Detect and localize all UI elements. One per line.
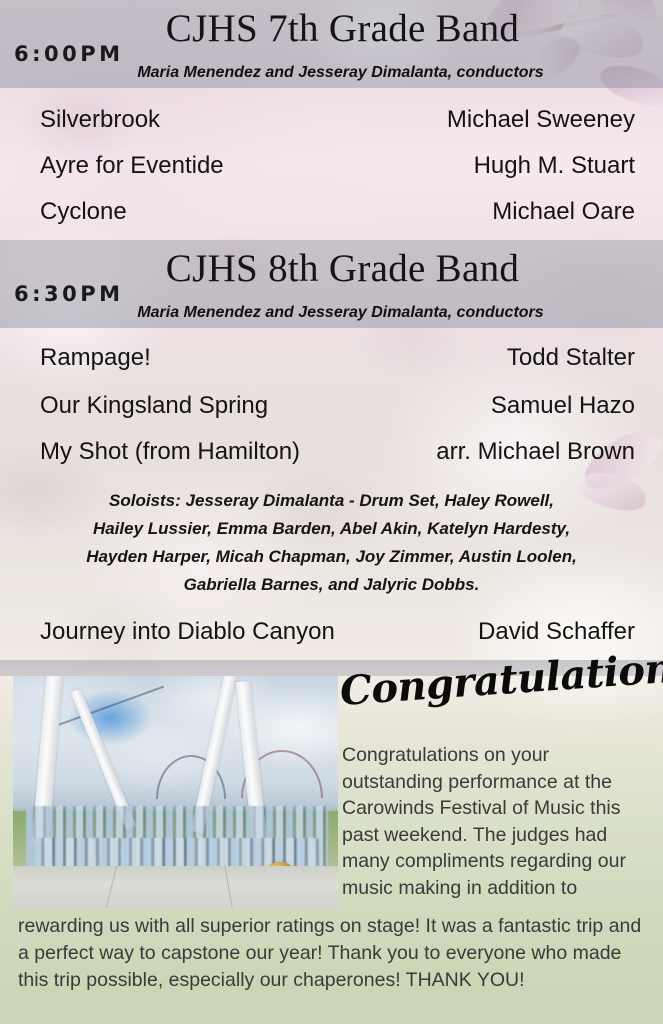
soloists-list: Soloists: Jesseray Dimalanta - Drum Set,…: [0, 487, 663, 599]
ensemble-title-7th: CJHS 7th Grade Band: [0, 6, 663, 51]
conductors-8th: Maria Menendez and Jesseray Dimalanta, c…: [0, 304, 663, 322]
piece-title: Cyclone: [40, 198, 127, 226]
piece-composer: arr. Michael Brown: [436, 438, 635, 466]
piece-title: Silverbrook: [40, 106, 160, 134]
ensemble-header-8th-grade: 6:30PM CJHS 8th Grade Band Maria Menende…: [0, 240, 663, 328]
program-row: Cyclone Michael Oare: [40, 198, 635, 226]
congratulations-body-bottom: rewarding us with all superior ratings o…: [18, 913, 647, 994]
congratulations-section: Congratulations Congratulations on your …: [0, 660, 663, 1024]
program-row: Silverbrook Michael Sweeney: [40, 106, 635, 134]
piece-composer: Samuel Hazo: [491, 392, 635, 420]
program-row: Ayre for Eventide Hugh M. Stuart: [40, 152, 635, 180]
soloists-line: Gabriella Barnes, and Jalyric Dobbs.: [0, 571, 663, 599]
congratulations-body-top: Congratulations on your outstanding perf…: [342, 742, 654, 901]
soloists-line: Soloists: Jesseray Dimalanta - Drum Set,…: [0, 487, 663, 515]
piece-composer: Todd Stalter: [507, 344, 635, 372]
piece-title: Journey into Diablo Canyon: [40, 618, 335, 646]
piece-title: My Shot (from Hamilton): [40, 438, 300, 466]
piece-composer: Hugh M. Stuart: [474, 152, 635, 180]
ensemble-header-7th-grade: 6:00PM CJHS 7th Grade Band Maria Menende…: [0, 0, 663, 88]
program-row: Journey into Diablo Canyon David Schaffe…: [40, 618, 635, 646]
photo-pavement: [13, 866, 338, 908]
ensemble-title-8th: CJHS 8th Grade Band: [0, 246, 663, 291]
piece-title: Ayre for Eventide: [40, 152, 224, 180]
program-row: My Shot (from Hamilton) arr. Michael Bro…: [40, 438, 635, 466]
conductors-7th: Maria Menendez and Jesseray Dimalanta, c…: [0, 64, 663, 82]
piece-composer: Michael Oare: [492, 198, 635, 226]
piece-title: Our Kingsland Spring: [40, 392, 268, 420]
soloists-line: Hayden Harper, Micah Chapman, Joy Zimmer…: [0, 543, 663, 571]
soloists-line: Hailey Lussier, Emma Barden, Abel Akin, …: [0, 515, 663, 543]
concert-program-flyer: 6:00PM CJHS 7th Grade Band Maria Menende…: [0, 0, 663, 1024]
band-group-photo: [13, 676, 338, 908]
piece-composer: David Schaffer: [478, 618, 635, 646]
program-row: Our Kingsland Spring Samuel Hazo: [40, 392, 635, 420]
piece-title: Rampage!: [40, 344, 151, 372]
piece-composer: Michael Sweeney: [447, 106, 635, 134]
program-row: Rampage! Todd Stalter: [40, 344, 635, 372]
